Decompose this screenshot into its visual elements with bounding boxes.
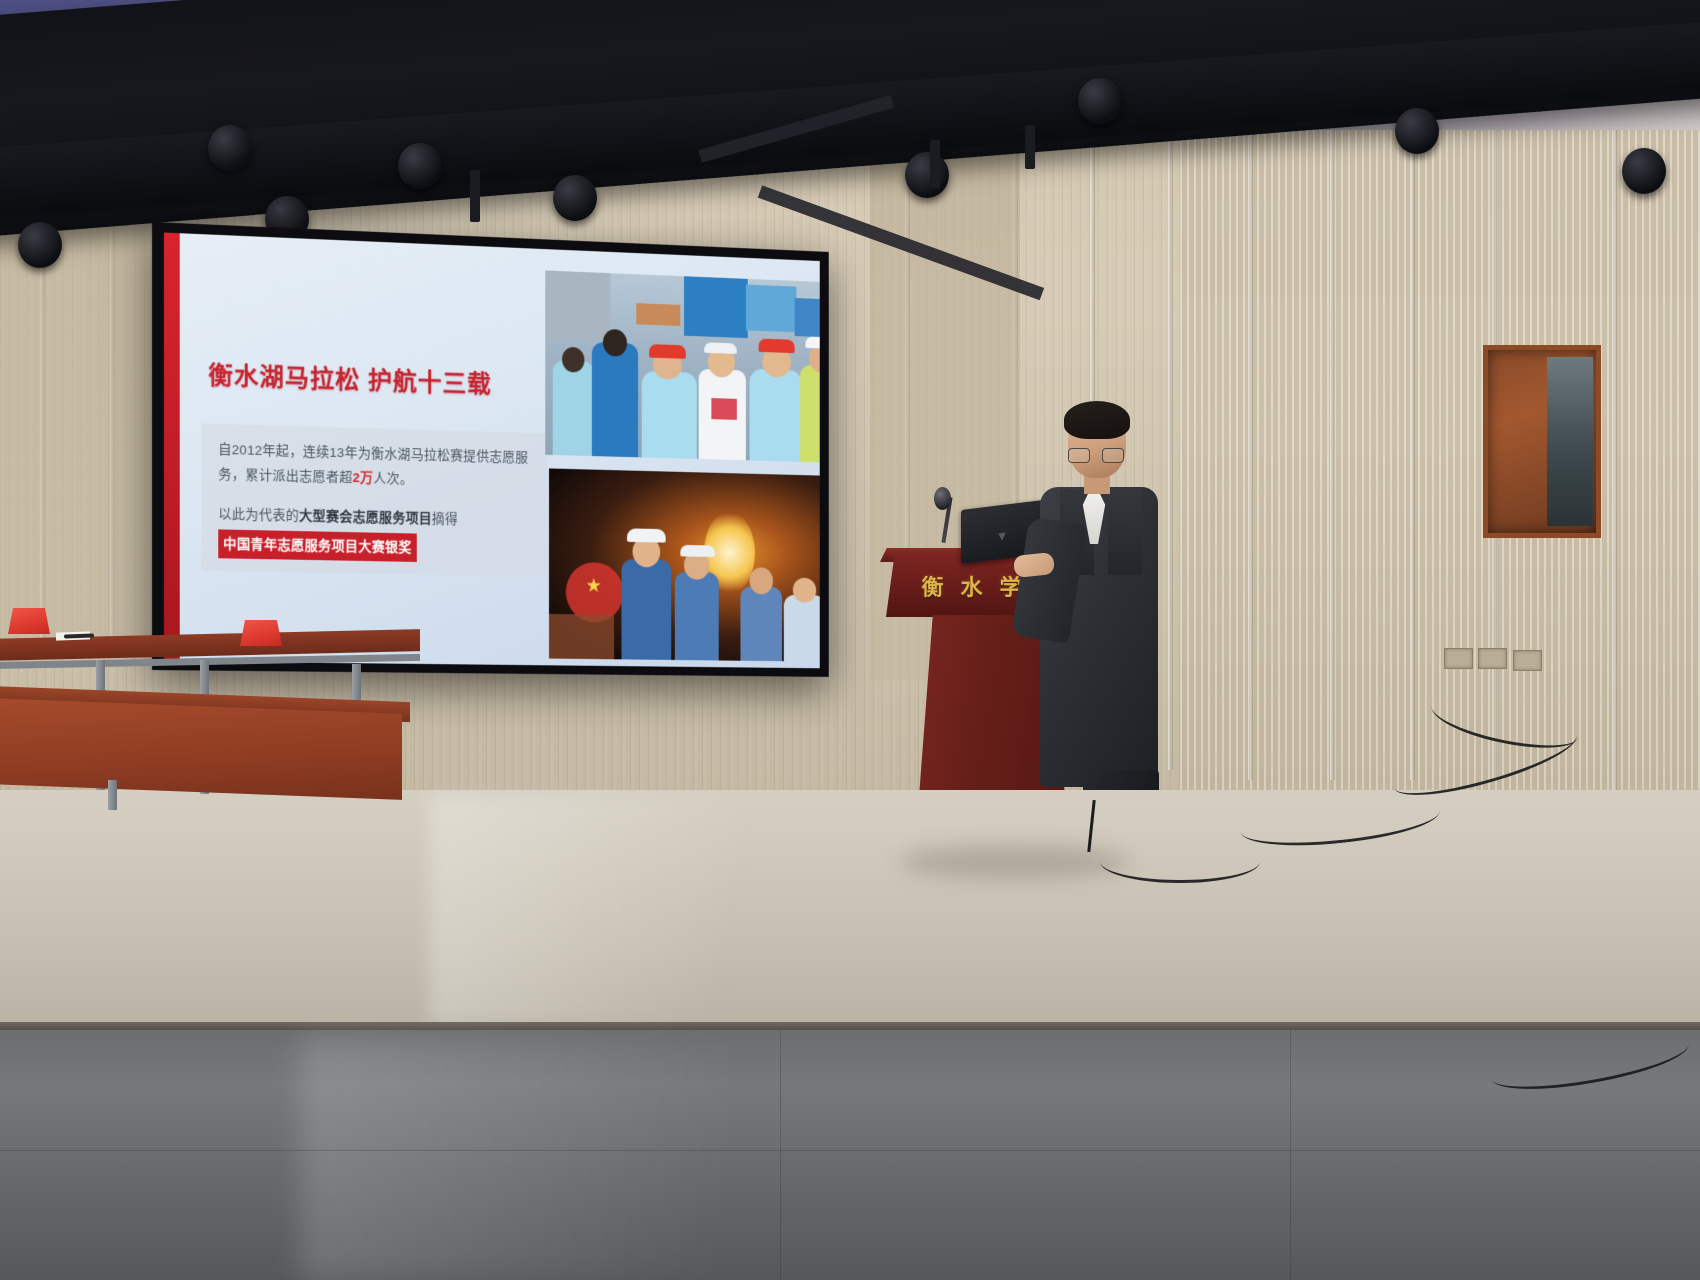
photo-volunteer <box>675 572 719 661</box>
slide-title: 衡水湖马拉松 护航十三载 <box>208 356 491 401</box>
slide-award-banner: 中国青年志愿服务项目大赛银奖 <box>218 529 416 562</box>
laptop-logo-icon: ▼ <box>996 528 1009 545</box>
photo-staff <box>592 342 638 457</box>
photo-volunteer <box>740 586 782 661</box>
slide-photo-marathon-day <box>545 270 820 462</box>
podium-shadow <box>900 845 1130 879</box>
podium-char-1: 衡 <box>921 570 945 602</box>
glasses-lens-left <box>1068 448 1090 463</box>
floor-cable <box>1100 840 1260 883</box>
stage-light <box>905 152 949 198</box>
floor-reflection <box>430 795 850 1025</box>
stage-light <box>18 222 62 268</box>
photo-volunteer <box>642 371 697 459</box>
light-rigging <box>1025 125 1035 169</box>
projection-screen-frame: 衡水湖马拉松 护航十三载 自2012年起，连续13年为衡水湖马拉松赛提供志愿服务… <box>152 222 829 677</box>
light-rigging <box>930 140 940 188</box>
wall-outlet <box>1478 648 1507 669</box>
microphone-icon <box>934 487 951 510</box>
floor-tile-seam <box>780 1030 781 1280</box>
stage-floor <box>0 790 1700 1030</box>
slide-p1-highlight: 2万 <box>353 470 374 485</box>
photo-person-head <box>603 329 627 357</box>
photo-red-cap <box>649 344 686 359</box>
speaker-lapel-right <box>1108 489 1142 575</box>
photo-banner <box>684 276 748 338</box>
auditorium-scene-photo: 衡水湖马拉松 护航十三载 自2012年起，连续13年为衡水湖马拉松赛提供志愿服务… <box>0 0 1700 1280</box>
floor-tile-seam <box>0 1150 1700 1151</box>
photo-person-head <box>750 567 773 594</box>
name-placard <box>240 620 282 646</box>
photo-white-cap <box>627 528 666 542</box>
name-placard <box>8 608 50 634</box>
photo-volunteer <box>553 360 594 456</box>
slide-photo-marathon-night <box>549 468 820 661</box>
slide-p2-bold: 大型赛会志愿服务项目 <box>299 508 432 526</box>
photo-person-head <box>562 347 584 373</box>
speaker-hair <box>1064 401 1130 439</box>
photo-background-building <box>545 270 610 340</box>
photo-background-banner <box>636 303 680 326</box>
podium-char-2: 水 <box>960 570 984 602</box>
booth-glass <box>1547 357 1592 525</box>
photo-race-bib <box>711 398 736 420</box>
photo-person-head <box>793 578 816 603</box>
slide-p2-prefix: 以此为代表的 <box>218 507 299 524</box>
photo-foreground <box>549 614 614 659</box>
photo-white-cap <box>680 545 715 557</box>
photo-visor <box>704 342 737 354</box>
control-room-window <box>1483 345 1601 538</box>
floor-tile-seam <box>1290 1030 1291 1280</box>
stage-light <box>1078 78 1122 124</box>
photo-banner <box>746 285 797 333</box>
photo-runner <box>800 365 820 463</box>
slide-p2-suffix: 摘得 <box>432 511 458 526</box>
photo-tent <box>795 298 820 338</box>
stage-light <box>553 175 597 221</box>
slide-paragraph-2: 以此为代表的大型赛会志愿服务项目摘得 中国青年志愿服务项目大赛银奖 <box>218 502 535 565</box>
foreground-floor-reflection <box>300 1035 920 1280</box>
photo-white-cap <box>805 336 819 349</box>
presentation-slide: 衡水湖马拉松 护航十三载 自2012年起，连续13年为衡水湖马拉松赛提供志愿服务… <box>164 233 820 669</box>
wall-outlet <box>1444 648 1473 669</box>
photo-volunteer <box>750 369 802 462</box>
light-rigging <box>470 170 480 222</box>
glasses-icon <box>1068 448 1124 461</box>
front-table-panel <box>0 698 402 800</box>
table-leg <box>108 780 117 810</box>
slide-p1-suffix: 人次。 <box>373 471 413 487</box>
slide-paragraph-1: 自2012年起，连续13年为衡水湖马拉松赛提供志愿服务，累计派出志愿者超2万人次… <box>218 437 535 494</box>
stage-light <box>398 143 442 189</box>
photo-volunteer <box>621 559 671 660</box>
slide-accent-bar <box>164 233 180 662</box>
glasses-lens-right <box>1102 448 1124 463</box>
stage-light <box>208 125 252 171</box>
wall-outlet <box>1513 650 1542 671</box>
stage-light <box>1395 108 1439 154</box>
photo-red-cap <box>759 339 795 354</box>
photo-volunteer <box>784 595 820 662</box>
stage-light <box>1622 148 1666 194</box>
